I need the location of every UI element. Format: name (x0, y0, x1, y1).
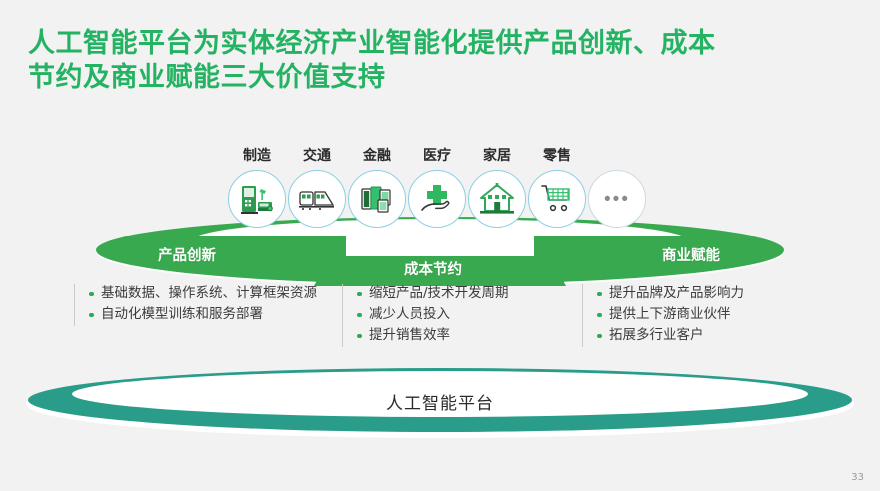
shopping-cart-icon (541, 184, 573, 214)
industry-label-manufacturing: 制造 (243, 145, 271, 165)
value-column-business-empowerment: 提升品牌及产品影响力 提供上下游商业伙伴 拓展多行业客户 (582, 284, 827, 347)
band-label-business-empower: 商业赋能 (662, 244, 720, 265)
list-item: 基础数据、操作系统、计算框架资源 (87, 284, 332, 303)
slide-canvas: 人工智能平台为实体经济产业智能化提供产品创新、成本 节约及商业赋能三大价值支持 (0, 0, 880, 491)
industry-item-finance[interactable]: 金融 (348, 170, 406, 228)
list-item: 拓展多行业客户 (595, 326, 827, 345)
industry-label-smart-home: 家居 (483, 145, 511, 165)
industry-label-retail: 零售 (543, 145, 571, 165)
industry-label-transport: 交通 (303, 145, 331, 165)
platform-label: 人工智能平台 (24, 389, 856, 414)
industry-item-transport[interactable]: 交通 (288, 170, 346, 228)
list-item: 减少人员投入 (355, 305, 570, 324)
band-label-cost-saving: 成本节约 (404, 258, 462, 279)
factory-robot-icon (240, 183, 274, 215)
house-icon (480, 183, 514, 215)
value-column-cost-saving: 缩短产品/技术开发周期 减少人员投入 提升销售效率 (342, 284, 570, 347)
list-item: 提供上下游商业伙伴 (595, 305, 827, 324)
list-item: 提升销售效率 (355, 326, 570, 345)
value-column-product-innovation: 基础数据、操作系统、计算框架资源 自动化模型训练和服务部署 (74, 284, 332, 326)
hand-medical-cross-icon (420, 183, 454, 215)
industry-item-smart-home[interactable]: 家居 (468, 170, 526, 228)
list-item: 自动化模型训练和服务部署 (87, 305, 332, 324)
industry-item-retail[interactable]: 零售 (528, 170, 586, 228)
industry-item-more[interactable]: ••• (588, 170, 646, 228)
list-item: 缩短产品/技术开发周期 (355, 284, 570, 303)
platform-base: 人工智能平台 (24, 362, 856, 440)
value-detail-columns: 基础数据、操作系统、计算框架资源 自动化模型训练和服务部署 缩短产品/技术开发周… (74, 284, 814, 358)
page-title: 人工智能平台为实体经济产业智能化提供产品创新、成本 节约及商业赋能三大价值支持 (28, 26, 848, 94)
list-item: 提升品牌及产品影响力 (595, 284, 827, 303)
industry-item-healthcare[interactable]: 医疗 (408, 170, 466, 228)
band-label-product-innovation: 产品创新 (158, 244, 216, 265)
industry-item-manufacturing[interactable]: 制造 (228, 170, 286, 228)
train-icon (299, 186, 335, 212)
industry-label-healthcare: 医疗 (423, 145, 451, 165)
page-number: 33 (851, 472, 864, 483)
money-stack-icon (361, 184, 393, 214)
ellipsis-icon: ••• (604, 190, 630, 209)
industry-label-finance: 金融 (363, 145, 391, 165)
industry-circle-row: 制造 交通 (228, 170, 648, 232)
